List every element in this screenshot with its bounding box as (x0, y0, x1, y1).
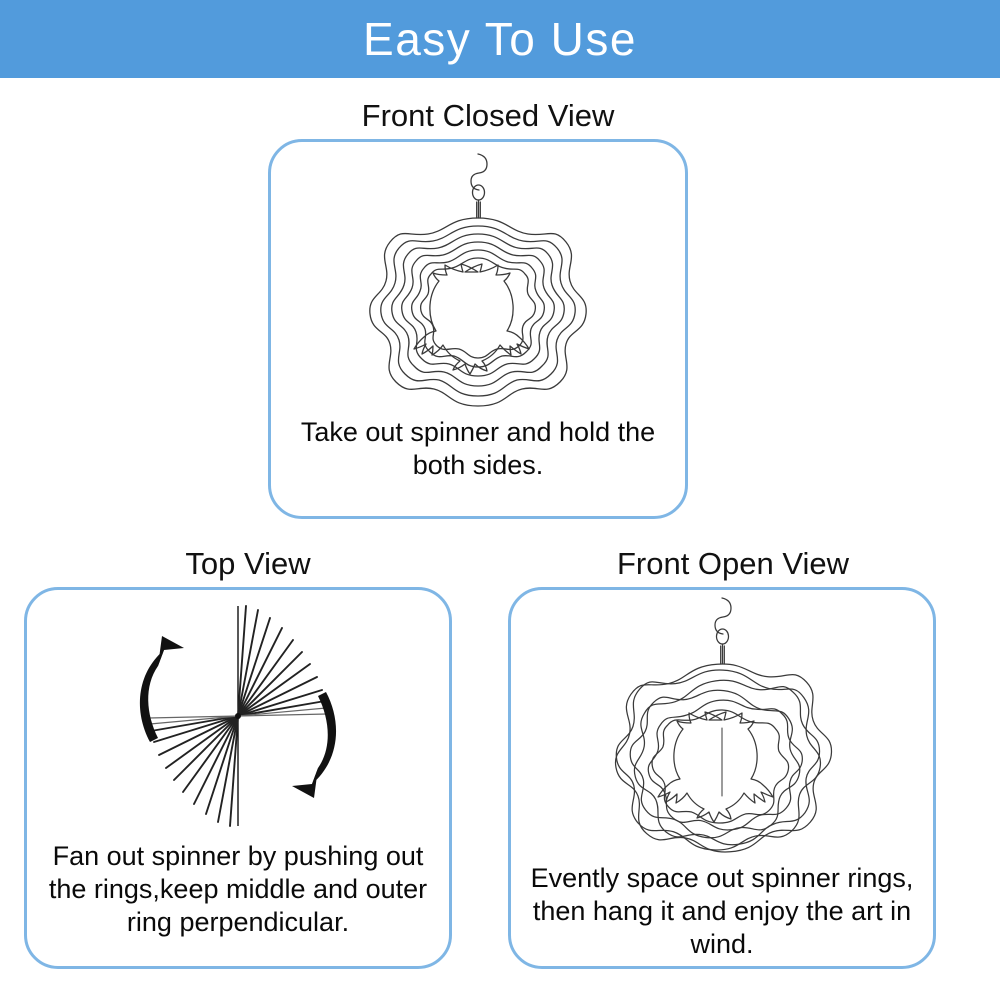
fan-rotation-diagram-icon (88, 600, 388, 832)
illustration-top-view (88, 600, 388, 832)
panel-front-open: Front Open View (508, 548, 958, 969)
fan-rays-lower-left (151, 716, 238, 826)
wind-spinner-open-icon (572, 592, 872, 860)
panel-caption-front-closed: Take out spinner and hold the both sides… (271, 416, 685, 482)
panel-top-view: Top View (24, 548, 472, 969)
panel-card-front-open: Evently space out spinner rings, then ha… (508, 587, 936, 969)
panel-card-top-view: Fan out spinner by pushing out the rings… (24, 587, 452, 969)
illustration-front-closed (328, 148, 628, 410)
panel-title-top-view: Top View (24, 548, 472, 579)
panel-title-front-open: Front Open View (508, 548, 958, 579)
fan-hub (235, 713, 241, 719)
panel-caption-front-open: Evently space out spinner rings, then ha… (511, 862, 933, 961)
panel-card-front-closed: Take out spinner and hold the both sides… (268, 139, 688, 519)
rotation-arrow-down (292, 692, 336, 798)
fan-rays-upper-right (238, 606, 325, 716)
header-banner: Easy To Use (0, 0, 1000, 78)
wind-spinner-closed-icon (328, 148, 628, 410)
panel-front-closed: Front Closed View (268, 100, 708, 519)
panel-title-front-closed: Front Closed View (268, 100, 708, 131)
illustration-front-open (572, 592, 872, 860)
panel-caption-top-view: Fan out spinner by pushing out the rings… (27, 840, 449, 939)
page-title: Easy To Use (363, 16, 637, 62)
